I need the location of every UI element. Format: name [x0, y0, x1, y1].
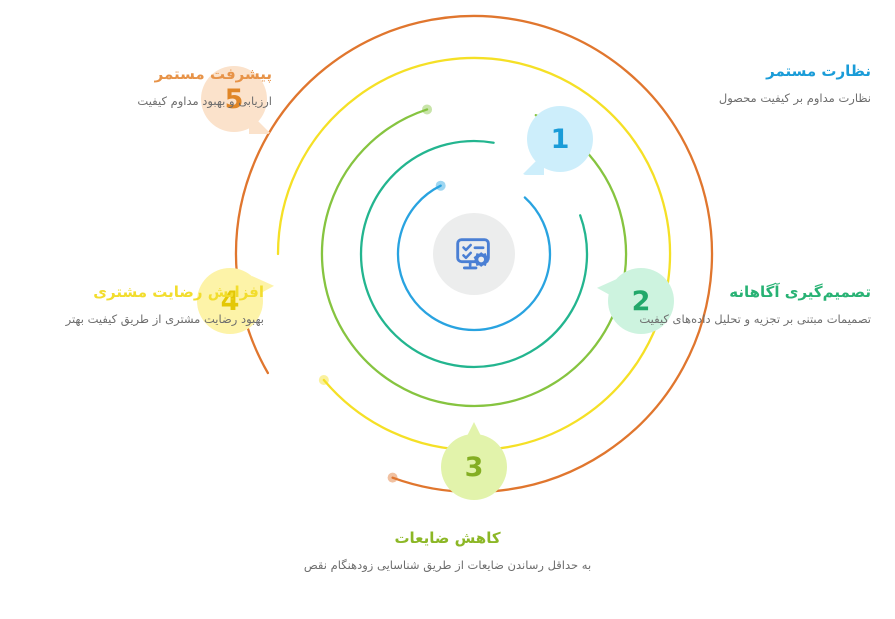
center-icon-disc — [433, 213, 515, 295]
quality-control-checklist-gear-icon — [451, 231, 497, 277]
step-label-5: پیشرفت مستمر ارزیابی و بهبود مداوم کیفیت — [22, 65, 272, 111]
step-title-5: پیشرفت مستمر — [22, 65, 272, 83]
step-bubble-1[interactable]: 1 — [527, 106, 593, 172]
step-label-3: کاهش ضایعات به حداقل رساندن ضایعات از طر… — [0, 529, 895, 575]
step-title-1: نظارت مستمر — [621, 62, 871, 80]
step-title-3: کاهش ضایعات — [0, 529, 895, 547]
infographic-canvas: 1 2 3 4 5 نظارت مستمر نظارت مداوم بر کیف… — [0, 0, 895, 619]
arc-blue-endpoint-dot — [436, 181, 446, 191]
step-desc-2: تصمیمات مبتنی بر تجزیه و تحلیل داده‌های … — [633, 310, 871, 329]
step-desc-4: بهبود رضایت مشتری از طریق کیفیت بهتر — [14, 310, 264, 329]
step-bubble-3[interactable]: 3 — [441, 434, 507, 500]
step-title-4: افزایش رضایت مشتری — [14, 283, 264, 301]
step-label-1: نظارت مستمر نظارت مداوم بر کیفیت محصول — [621, 62, 871, 108]
step-desc-3: به حداقل رساندن ضایعات از طریق شناسایی ز… — [0, 556, 895, 575]
arc-yellow-endpoint-dot — [319, 375, 329, 385]
step-title-2: تصمیم‌گیری آگاهانه — [633, 283, 871, 301]
step-desc-1: نظارت مداوم بر کیفیت محصول — [621, 89, 871, 108]
arc-orange-endpoint-dot — [388, 473, 398, 483]
step-number-1: 1 — [551, 126, 570, 153]
step-desc-5: ارزیابی و بهبود مداوم کیفیت — [22, 92, 272, 111]
step-number-3: 3 — [465, 454, 484, 481]
arc-green-endpoint-dot — [422, 104, 432, 114]
step-label-2: تصمیم‌گیری آگاهانه تصمیمات مبتنی بر تجزی… — [633, 283, 871, 329]
step-label-4: افزایش رضایت مشتری بهبود رضایت مشتری از … — [14, 283, 264, 329]
